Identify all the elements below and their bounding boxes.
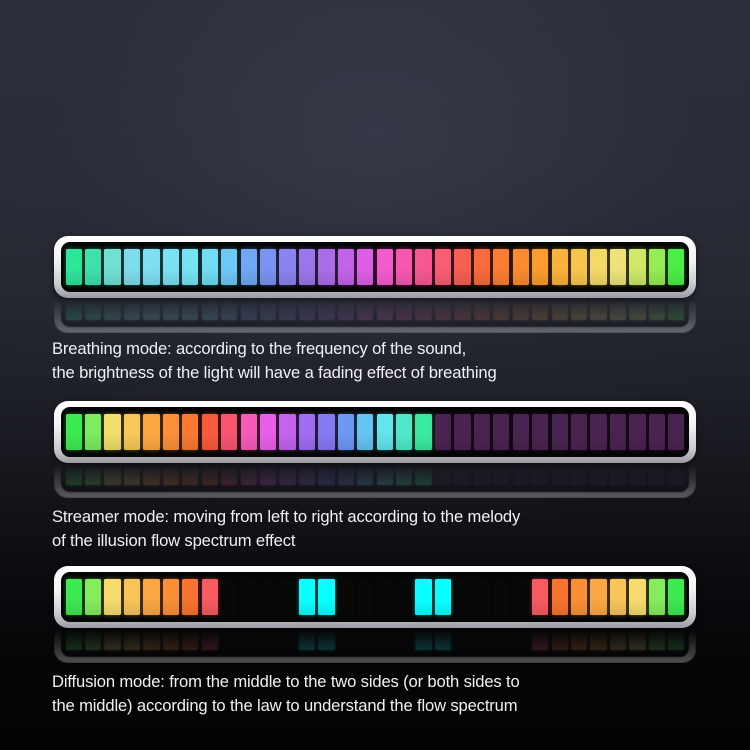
led-segment xyxy=(435,464,451,485)
led-segment xyxy=(454,579,470,615)
led-segment xyxy=(629,299,645,320)
led-segment xyxy=(474,249,490,285)
led-segment xyxy=(104,629,120,650)
led-segment xyxy=(279,249,295,285)
led-segment xyxy=(124,464,140,485)
led-segment xyxy=(104,299,120,320)
led-segment xyxy=(552,629,568,650)
led-segment xyxy=(415,414,431,450)
led-segment xyxy=(260,629,276,650)
led-segment xyxy=(143,629,159,650)
led-segment xyxy=(182,629,198,650)
led-segment xyxy=(396,299,412,320)
led-segment xyxy=(163,629,179,650)
led-segment xyxy=(454,629,470,650)
led-segment xyxy=(124,414,140,450)
led-segment xyxy=(299,629,315,650)
led-segment xyxy=(435,629,451,650)
led-segment xyxy=(241,299,257,320)
led-segment xyxy=(299,299,315,320)
led-segment xyxy=(338,579,354,615)
led-segment xyxy=(163,299,179,320)
led-segment xyxy=(435,414,451,450)
led-segment xyxy=(513,249,529,285)
led-segment xyxy=(221,464,237,485)
led-segment xyxy=(454,464,470,485)
led-segment xyxy=(182,464,198,485)
led-bar-reflection-breathing xyxy=(54,299,696,333)
led-segment xyxy=(571,299,587,320)
led-segment xyxy=(202,249,218,285)
led-segment xyxy=(552,299,568,320)
led-segment xyxy=(590,249,606,285)
led-segment xyxy=(552,464,568,485)
led-segment xyxy=(357,414,373,450)
led-segment xyxy=(513,629,529,650)
led-segment xyxy=(357,464,373,485)
led-segment xyxy=(474,579,490,615)
led-segment xyxy=(377,299,393,320)
led-segment xyxy=(85,579,101,615)
led-segment xyxy=(143,464,159,485)
led-segment xyxy=(279,629,295,650)
led-segment xyxy=(163,414,179,450)
led-segment xyxy=(610,579,626,615)
led-segment xyxy=(202,414,218,450)
caption-diffusion-line2: the middle) according to the law to unde… xyxy=(52,694,712,718)
led-segment xyxy=(124,579,140,615)
led-segment xyxy=(668,299,684,320)
led-segment xyxy=(532,249,548,285)
led-segment xyxy=(85,414,101,450)
led-segment xyxy=(396,464,412,485)
led-segment xyxy=(318,249,334,285)
led-segment xyxy=(338,249,354,285)
led-segment xyxy=(532,414,548,450)
led-segment xyxy=(66,299,82,320)
led-segment xyxy=(66,464,82,485)
led-segment xyxy=(124,299,140,320)
led-segment xyxy=(649,579,665,615)
led-segment xyxy=(415,629,431,650)
led-segment xyxy=(629,249,645,285)
led-segment xyxy=(532,579,548,615)
led-segment xyxy=(513,464,529,485)
led-segment xyxy=(163,464,179,485)
led-segment xyxy=(241,414,257,450)
led-bar-streamer[interactable] xyxy=(54,401,696,463)
led-strip-reflection-breathing xyxy=(61,299,689,327)
led-bar-block-streamer xyxy=(0,401,750,498)
led-segment xyxy=(610,249,626,285)
led-segment xyxy=(377,464,393,485)
led-segment xyxy=(182,249,198,285)
led-segment xyxy=(143,299,159,320)
led-segment xyxy=(279,464,295,485)
led-segment xyxy=(357,299,373,320)
led-segment xyxy=(396,579,412,615)
led-segment xyxy=(649,629,665,650)
caption-diffusion-line1: Diffusion mode: from the middle to the t… xyxy=(52,670,712,694)
led-bar-reflection-diffusion xyxy=(54,629,696,663)
led-segment xyxy=(590,464,606,485)
led-segment xyxy=(435,579,451,615)
led-segment xyxy=(493,299,509,320)
led-segment xyxy=(649,464,665,485)
led-segment xyxy=(415,464,431,485)
led-segment xyxy=(532,464,548,485)
led-segment xyxy=(318,464,334,485)
led-segment xyxy=(357,579,373,615)
led-segment xyxy=(221,299,237,320)
led-segment xyxy=(474,414,490,450)
led-segment xyxy=(513,299,529,320)
led-segment xyxy=(338,464,354,485)
led-segment xyxy=(552,579,568,615)
led-segment xyxy=(493,464,509,485)
led-segment xyxy=(143,414,159,450)
led-segment xyxy=(493,249,509,285)
led-segment xyxy=(221,629,237,650)
led-segment xyxy=(474,299,490,320)
led-segment xyxy=(202,299,218,320)
led-segment xyxy=(104,414,120,450)
led-segment xyxy=(318,629,334,650)
led-segment xyxy=(163,249,179,285)
led-segment xyxy=(279,414,295,450)
led-segment xyxy=(610,299,626,320)
led-segment xyxy=(85,299,101,320)
led-strip-diffusion xyxy=(61,572,689,622)
led-segment xyxy=(532,299,548,320)
led-segment xyxy=(66,629,82,650)
led-segment xyxy=(338,629,354,650)
led-segment xyxy=(571,464,587,485)
led-segment xyxy=(66,414,82,450)
led-segment xyxy=(396,629,412,650)
led-segment xyxy=(396,414,412,450)
led-segment xyxy=(649,299,665,320)
led-segment xyxy=(299,414,315,450)
led-segment xyxy=(143,249,159,285)
led-segment xyxy=(668,629,684,650)
led-strip-breathing xyxy=(61,242,689,292)
led-segment xyxy=(668,579,684,615)
led-bar-block-breathing xyxy=(0,236,750,333)
led-bar-diffusion[interactable] xyxy=(54,566,696,628)
caption-streamer-line2: of the illusion flow spectrum effect xyxy=(52,529,712,553)
led-segment xyxy=(629,579,645,615)
led-segment xyxy=(221,414,237,450)
led-segment xyxy=(454,249,470,285)
led-segment xyxy=(474,629,490,650)
led-segment xyxy=(493,629,509,650)
led-strip-reflection-diffusion xyxy=(61,629,689,657)
led-segment xyxy=(415,249,431,285)
led-segment xyxy=(610,464,626,485)
led-segment xyxy=(124,249,140,285)
led-segment xyxy=(260,464,276,485)
caption-streamer-line1: Streamer mode: moving from left to right… xyxy=(52,505,712,529)
led-segment xyxy=(590,414,606,450)
led-segment xyxy=(66,579,82,615)
led-segment xyxy=(85,629,101,650)
led-segment xyxy=(357,249,373,285)
led-strip-reflection-streamer xyxy=(61,464,689,492)
led-segment xyxy=(182,414,198,450)
led-bar-breathing[interactable] xyxy=(54,236,696,298)
led-segment xyxy=(415,299,431,320)
led-segment xyxy=(85,249,101,285)
caption-streamer: Streamer mode: moving from left to right… xyxy=(52,505,712,552)
led-segment xyxy=(66,249,82,285)
led-segment xyxy=(552,414,568,450)
led-segment xyxy=(493,414,509,450)
led-segment xyxy=(299,249,315,285)
led-segment xyxy=(318,299,334,320)
led-segment xyxy=(124,629,140,650)
led-segment xyxy=(182,579,198,615)
led-segment xyxy=(435,299,451,320)
led-segment xyxy=(590,579,606,615)
led-segment xyxy=(668,249,684,285)
led-segment xyxy=(571,629,587,650)
led-segment xyxy=(202,629,218,650)
led-segment xyxy=(143,579,159,615)
led-segment xyxy=(318,579,334,615)
led-segment xyxy=(241,579,257,615)
led-segment xyxy=(357,629,373,650)
led-segment xyxy=(182,299,198,320)
caption-breathing-line1: Breathing mode: according to the frequen… xyxy=(52,337,712,361)
led-segment xyxy=(590,629,606,650)
led-segment xyxy=(513,414,529,450)
led-segment xyxy=(202,464,218,485)
led-segment xyxy=(104,249,120,285)
led-segment xyxy=(221,249,237,285)
led-segment xyxy=(493,579,509,615)
led-segment xyxy=(299,464,315,485)
led-segment xyxy=(85,464,101,485)
led-segment xyxy=(377,414,393,450)
led-segment xyxy=(610,414,626,450)
led-segment xyxy=(610,629,626,650)
led-segment xyxy=(396,249,412,285)
page-root: Color/mode switch as you like The playab… xyxy=(0,0,750,750)
led-segment xyxy=(279,299,295,320)
led-segment xyxy=(629,629,645,650)
led-segment xyxy=(241,629,257,650)
led-segment xyxy=(377,249,393,285)
led-segment xyxy=(435,249,451,285)
led-bar-reflection-streamer xyxy=(54,464,696,498)
led-bar-block-diffusion xyxy=(0,566,750,663)
led-segment xyxy=(377,579,393,615)
led-segment xyxy=(649,414,665,450)
led-segment xyxy=(649,249,665,285)
led-segment xyxy=(260,414,276,450)
led-segment xyxy=(668,414,684,450)
led-segment xyxy=(474,464,490,485)
led-segment xyxy=(415,579,431,615)
led-segment xyxy=(221,579,237,615)
led-segment xyxy=(571,414,587,450)
led-segment xyxy=(668,464,684,485)
led-segment xyxy=(260,249,276,285)
led-segment xyxy=(163,579,179,615)
led-segment xyxy=(571,249,587,285)
led-segment xyxy=(629,464,645,485)
led-segment xyxy=(338,299,354,320)
led-segment xyxy=(552,249,568,285)
caption-breathing: Breathing mode: according to the frequen… xyxy=(52,337,712,384)
caption-breathing-line2: the brightness of the light will have a … xyxy=(52,361,712,385)
led-segment xyxy=(260,579,276,615)
led-segment xyxy=(590,299,606,320)
led-segment xyxy=(260,299,276,320)
caption-diffusion: Diffusion mode: from the middle to the t… xyxy=(52,670,712,717)
led-segment xyxy=(629,414,645,450)
led-segment xyxy=(299,579,315,615)
led-segment xyxy=(104,579,120,615)
led-segment xyxy=(454,299,470,320)
led-strip-streamer xyxy=(61,407,689,457)
led-segment xyxy=(571,579,587,615)
led-segment xyxy=(318,414,334,450)
led-segment xyxy=(338,414,354,450)
led-segment xyxy=(532,629,548,650)
led-segment xyxy=(513,579,529,615)
led-segment xyxy=(377,629,393,650)
led-segment xyxy=(454,414,470,450)
led-segment xyxy=(241,464,257,485)
led-segment xyxy=(202,579,218,615)
led-segment xyxy=(104,464,120,485)
led-segment xyxy=(241,249,257,285)
led-segment xyxy=(279,579,295,615)
